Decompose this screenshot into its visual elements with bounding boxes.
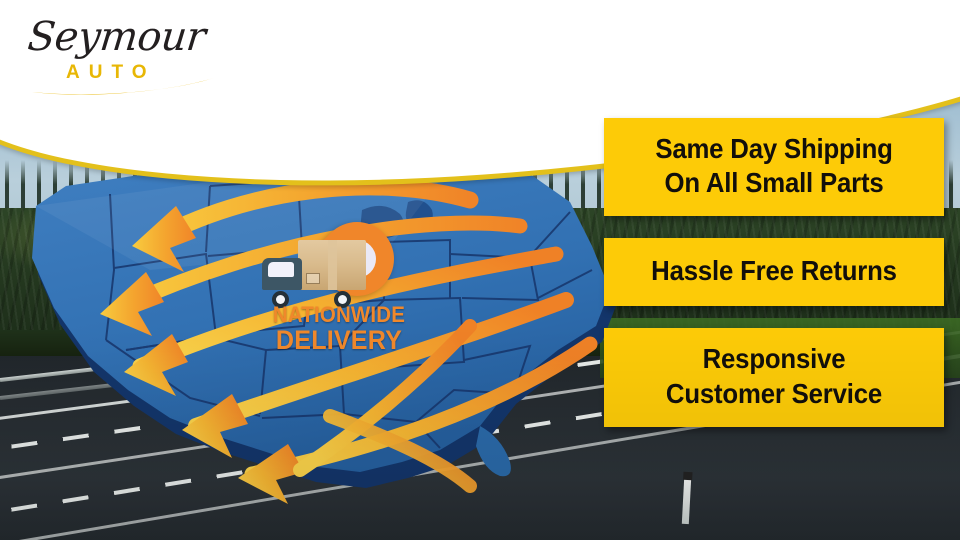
brand-name: Seymour: [26, 14, 208, 60]
delivery-truck-icon: [262, 240, 370, 302]
claim-3-line-1: Responsive: [627, 342, 921, 376]
claim-1-line-1: Same Day Shipping: [627, 132, 921, 166]
claims-list: Same Day Shipping On All Small Parts Has…: [604, 118, 944, 427]
brand-logo[interactable]: Seymour AUTO: [24, 10, 224, 102]
badge-line-2: DELIVERY: [262, 327, 416, 353]
promo-banner: NATIONWIDE DELIVERY Seymour AUTO Same Da…: [0, 0, 960, 540]
badge-caption: NATIONWIDE DELIVERY: [256, 304, 422, 353]
claim-hassle-free-returns[interactable]: Hassle Free Returns: [604, 238, 944, 306]
nationwide-delivery-badge: NATIONWIDE DELIVERY: [262, 222, 412, 367]
claim-responsive-customer-service[interactable]: Responsive Customer Service: [604, 328, 944, 426]
brand-subtitle: AUTO: [66, 62, 155, 84]
claim-3-line-2: Customer Service: [627, 377, 921, 411]
badge-line-1: NATIONWIDE: [262, 304, 416, 326]
claim-same-day-shipping[interactable]: Same Day Shipping On All Small Parts: [604, 118, 944, 216]
claim-2-line-1: Hassle Free Returns: [627, 254, 921, 288]
claim-1-line-2: On All Small Parts: [627, 166, 921, 200]
